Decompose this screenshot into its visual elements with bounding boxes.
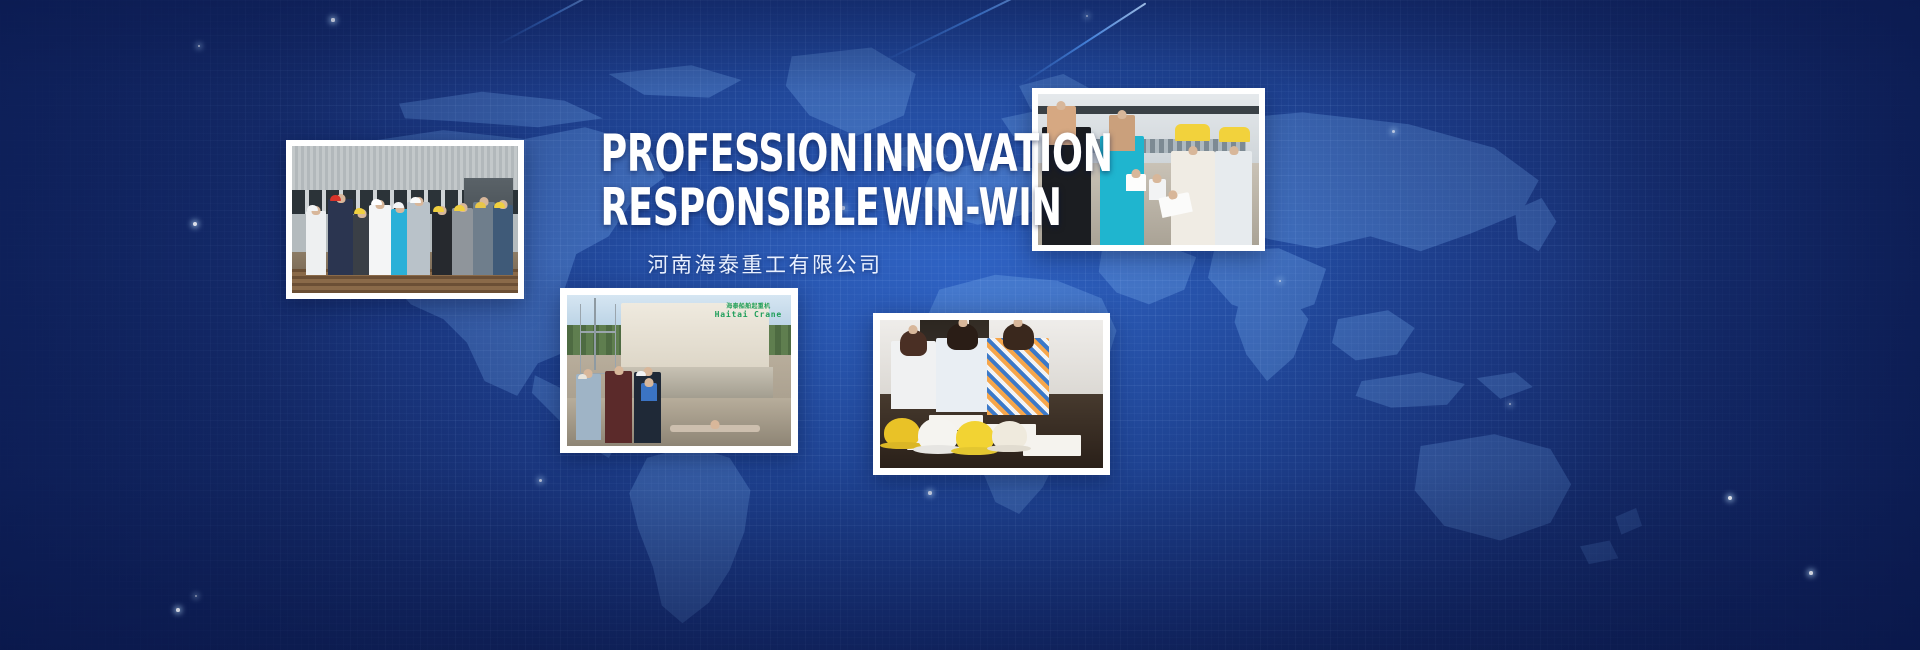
crane-sign-english: Haitai Crane bbox=[715, 311, 782, 319]
sparkle-3 bbox=[331, 18, 334, 21]
sparkle-1 bbox=[193, 222, 197, 226]
photo-card-site-inspection-group bbox=[286, 140, 524, 299]
company-name-subtitle: 河南海泰重工有限公司 bbox=[530, 249, 1000, 279]
photo-frame bbox=[292, 146, 518, 293]
photo-card-contract-signing bbox=[873, 313, 1110, 475]
photo-frame bbox=[880, 320, 1103, 468]
sparkle-11 bbox=[1809, 571, 1813, 575]
sparkle-7 bbox=[928, 491, 931, 494]
headline-word-innovation: INNOVATION bbox=[861, 124, 1113, 184]
headline-word-winwin: WIN-WIN bbox=[882, 178, 1061, 238]
headline-line-2: RESPONSIBLEWIN-WIN bbox=[601, 182, 930, 236]
sparkle-10 bbox=[1728, 496, 1732, 500]
photo-scene-haitai-crane: 海泰船舶起重机 Haitai Crane bbox=[567, 295, 791, 446]
hero-banner: PROFESSIONINNOVATION RESPONSIBLEWIN-WIN … bbox=[0, 0, 1920, 650]
headline-word-responsible: RESPONSIBLE bbox=[601, 178, 880, 238]
photo-frame: 海泰船舶起重机 Haitai Crane bbox=[567, 295, 791, 446]
sparkle-6 bbox=[539, 479, 542, 482]
crane-signage: 海泰船舶起重机 Haitai Crane bbox=[715, 304, 782, 319]
headline-word-profession: PROFESSION bbox=[601, 124, 859, 184]
headline-line-1: PROFESSIONINNOVATION bbox=[601, 128, 930, 182]
sparkle-9 bbox=[1392, 130, 1395, 133]
photo-scene-site-inspection bbox=[292, 146, 518, 293]
sparkle-4 bbox=[176, 608, 180, 612]
photo-card-haitai-crane: 海泰船舶起重机 Haitai Crane bbox=[560, 288, 798, 453]
photo-scene-contract-signing bbox=[880, 320, 1103, 468]
banner-copy: PROFESSIONINNOVATION RESPONSIBLEWIN-WIN … bbox=[530, 128, 1000, 279]
